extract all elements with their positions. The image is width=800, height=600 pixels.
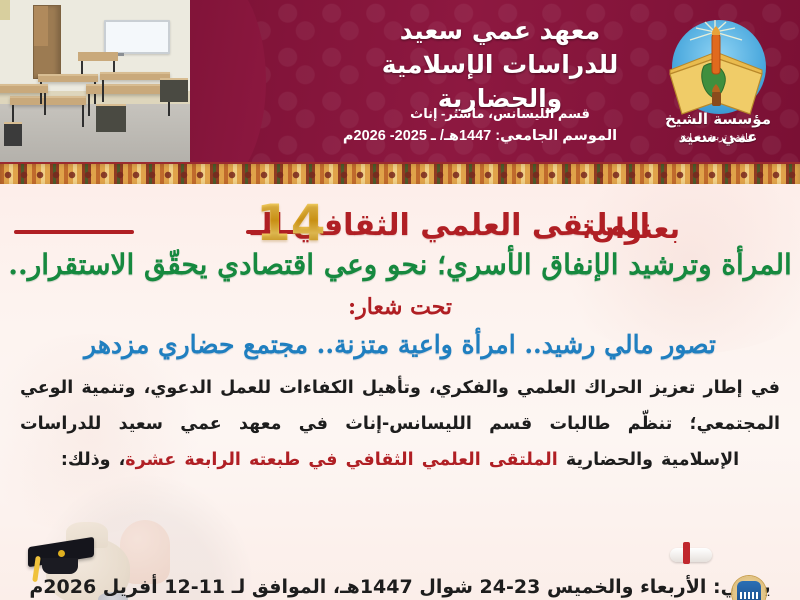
classroom-chair bbox=[4, 122, 22, 146]
academic-season: الموسم الجامعي: 1447هـ/ ـ 2025- 2026م bbox=[310, 128, 650, 144]
classroom-teacher-desk bbox=[78, 52, 118, 61]
institute-logo: مؤسسة الشيخ عمي سعيد ثقافة • تربية • ترا… bbox=[658, 18, 778, 146]
event-dateline: يومي: الأربعاء والخميس 23-24 شوال 1447هـ… bbox=[0, 576, 800, 598]
poster-root: معهد عمي سعيد للدراسات الإسلامية والحضار… bbox=[0, 0, 800, 600]
classroom-desk bbox=[10, 96, 86, 105]
banner-curve-inner bbox=[190, 0, 266, 162]
seal-badge-icon bbox=[732, 576, 766, 600]
slogan-label: تحت شعار: bbox=[0, 294, 800, 320]
classroom-door bbox=[33, 5, 61, 79]
seal-badge-inner bbox=[737, 581, 761, 600]
classroom-window-light bbox=[0, 0, 10, 20]
open-book-minaret-emblem-icon bbox=[658, 18, 778, 122]
forum-subtitle: المرأة وترشيد الإنفاق الأسري؛ نحو وعي اق… bbox=[0, 248, 800, 281]
paragraph-part2: ، وذلك: bbox=[61, 450, 125, 470]
diploma-scroll-icon bbox=[670, 542, 714, 566]
title-suffix: بعنوان: bbox=[582, 212, 680, 245]
slogan-text: تصور مالي رشيد.. امرأة واعية متزنة.. مجت… bbox=[0, 330, 800, 359]
classroom-desk bbox=[38, 74, 98, 82]
cap-button bbox=[58, 550, 65, 557]
cap-base bbox=[42, 558, 78, 574]
classroom-desk bbox=[0, 84, 48, 93]
title-suffix-text: بعنوان bbox=[591, 213, 680, 244]
classroom-chair bbox=[96, 104, 126, 132]
classroom-door-panel bbox=[34, 6, 48, 46]
title-rule-left bbox=[14, 230, 134, 234]
classroom-whiteboard bbox=[104, 20, 170, 54]
title-colon-mark: : bbox=[582, 213, 591, 244]
institute-department: قسم الليسانس، ماستر- إناث bbox=[350, 106, 650, 122]
scroll-tube bbox=[670, 548, 712, 562]
institute-name-line1: معهد عمي سعيد bbox=[350, 14, 650, 48]
description-paragraph: في إطار تعزيز الحراك العلمي والفكري، وتأ… bbox=[20, 370, 780, 478]
scroll-ribbon bbox=[683, 542, 690, 564]
institute-name: معهد عمي سعيد للدراسات الإسلامية والحضار… bbox=[350, 14, 650, 116]
edition-number: 14 bbox=[256, 198, 326, 248]
classroom-chair bbox=[160, 78, 188, 102]
paragraph-highlight: الملتقى العلمي الثقافي في طبعته الرابعة … bbox=[125, 450, 557, 470]
poster-body: الملتقى العلمي الثقافي الـ 14 بعنوان: ال… bbox=[0, 184, 800, 600]
logo-keywords: ثقافة • تربية • تراث bbox=[658, 132, 778, 143]
ornamental-border-dots bbox=[0, 166, 800, 184]
poster-header: معهد عمي سعيد للدراسات الإسلامية والحضار… bbox=[0, 0, 800, 162]
title-row: الملتقى العلمي الثقافي الـ 14 بعنوان: bbox=[0, 196, 800, 250]
